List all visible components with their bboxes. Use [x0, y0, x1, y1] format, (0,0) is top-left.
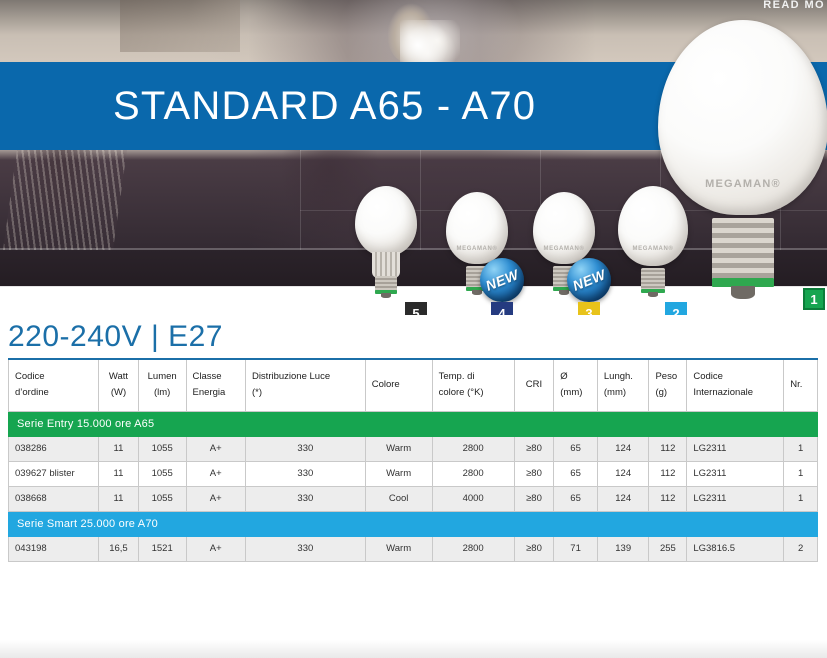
cell-classe: A+: [186, 536, 245, 561]
hero-banner: READ MO STANDARD A65 - A70 MEGAMAN® MEGA…: [0, 0, 827, 315]
cell-lumen: 1055: [138, 486, 186, 511]
cell-peso: 112: [649, 436, 687, 461]
feature-icons-row: Temperatura di esercizio + 40° - 30°: [0, 572, 827, 650]
bulb-brand-label-1: MEGAMAN®: [658, 178, 827, 190]
new-badge-label: NEW: [570, 266, 608, 294]
cell-temp: 2800: [432, 436, 514, 461]
col-header-line1: Classe: [193, 369, 239, 385]
cell-cri: ≥80: [514, 536, 554, 561]
col-header-nr: Nr.: [784, 359, 818, 411]
cell-watt: 11: [99, 436, 139, 461]
col-header-line1: Ø: [560, 369, 591, 385]
col-header-line2: Energia: [193, 385, 239, 401]
table-row[interactable]: 038286 11 1055 A+ 330 Warm 2800 ≥80 65 1…: [9, 436, 818, 461]
cell-internazionale: LG2311: [687, 486, 784, 511]
cell-internazionale: LG3816.5: [687, 536, 784, 561]
cell-distribuzione: 330: [245, 536, 365, 561]
specifications-table: Codice d’ordine Watt (W) Lumen (lm) Clas…: [8, 358, 818, 562]
new-badge-label: NEW: [483, 266, 521, 294]
product-number-badge-3: 3: [578, 302, 600, 315]
product-datasheet-page: READ MO STANDARD A65 - A70 MEGAMAN® MEGA…: [0, 0, 827, 658]
col-header-line1: Distribuzione Luce: [252, 369, 359, 385]
cell-lunghezza: 124: [597, 461, 649, 486]
cell-watt: 16,5: [99, 536, 139, 561]
cell-temp: 2800: [432, 461, 514, 486]
cell-classe: A+: [186, 486, 245, 511]
col-header-line1: Temp. di: [439, 369, 508, 385]
col-header-codice: Codice d’ordine: [9, 359, 99, 411]
new-badge-right: NEW: [567, 258, 611, 302]
col-header-line2: Internazionale: [693, 385, 777, 401]
product-number-badge-4: 4: [491, 302, 513, 315]
cell-codice: 043198: [9, 536, 99, 561]
table-body: Serie Entry 15.000 ore A65 038286 11 105…: [9, 411, 818, 561]
table-row[interactable]: 039627 blister 11 1055 A+ 330 Warm 2800 …: [9, 461, 818, 486]
cell-codice: 038286: [9, 436, 99, 461]
cell-colore: Warm: [365, 461, 432, 486]
chair: [3, 150, 127, 250]
cell-peso: 255: [649, 536, 687, 561]
col-header-temp-colore: Temp. di colore (°K): [432, 359, 514, 411]
cell-lumen: 1521: [138, 536, 186, 561]
cell-colore: Cool: [365, 486, 432, 511]
cell-distribuzione: 330: [245, 436, 365, 461]
cell-lunghezza: 139: [597, 536, 649, 561]
col-header-classe-energia: Classe Energia: [186, 359, 245, 411]
col-header-line1: Lungh.: [604, 369, 643, 385]
cell-nr: 1: [784, 486, 818, 511]
col-header-colore: Colore: [365, 359, 432, 411]
col-header-watt: Watt (W): [99, 359, 139, 411]
cell-nr: 2: [784, 536, 818, 561]
col-header-line2: (mm): [560, 385, 591, 401]
cell-distribuzione: 330: [245, 486, 365, 511]
col-header-line2: (g): [655, 385, 680, 401]
bulb-brand-label-4: MEGAMAN®: [446, 246, 508, 252]
col-header-line2: (mm): [604, 385, 643, 401]
table-head: Codice d’ordine Watt (W) Lumen (lm) Clas…: [9, 359, 818, 411]
bottom-fade: [0, 640, 827, 658]
col-header-line1: Colore: [372, 377, 426, 393]
table-group-header-smart: Serie Smart 25.000 ore A70: [9, 511, 818, 536]
product-number-badge-5: 5: [405, 302, 427, 315]
col-header-codice-internazionale: Codice Internazionale: [687, 359, 784, 411]
product-number-badge-1: 1: [803, 288, 825, 310]
cell-codice: 038668: [9, 486, 99, 511]
col-header-lunghezza: Lungh. (mm): [597, 359, 649, 411]
col-header-diametro: Ø (mm): [554, 359, 598, 411]
col-header-line1: Watt: [105, 369, 132, 385]
cell-internazionale: LG2311: [687, 436, 784, 461]
cell-cri: ≥80: [514, 486, 554, 511]
cell-classe: A+: [186, 436, 245, 461]
flowers: [400, 20, 460, 66]
cell-temp: 2800: [432, 536, 514, 561]
cell-cri: ≥80: [514, 436, 554, 461]
col-header-line2: (W): [105, 385, 132, 401]
cell-peso: 112: [649, 461, 687, 486]
cell-lunghezza: 124: [597, 486, 649, 511]
cell-lumen: 1055: [138, 436, 186, 461]
col-header-distribuzione-luce: Distribuzione Luce (*): [245, 359, 365, 411]
col-header-line1: Codice: [693, 369, 777, 385]
cell-classe: A+: [186, 461, 245, 486]
cell-lunghezza: 124: [597, 436, 649, 461]
table-row[interactable]: 043198 16,5 1521 A+ 330 Warm 2800 ≥80 71…: [9, 536, 818, 561]
col-header-peso: Peso (g): [649, 359, 687, 411]
read-more-link[interactable]: READ MO: [763, 0, 825, 11]
col-header-line1: Lumen: [145, 369, 180, 385]
cell-colore: Warm: [365, 436, 432, 461]
cell-codice: 039627 blister: [9, 461, 99, 486]
page-title: STANDARD A65 - A70: [113, 84, 536, 129]
cell-diametro: 71: [554, 536, 598, 561]
col-header-line1: CRI: [521, 377, 548, 393]
cell-watt: 11: [99, 461, 139, 486]
table-group-header-entry: Serie Entry 15.000 ore A65: [9, 411, 818, 436]
cell-nr: 1: [784, 436, 818, 461]
cell-distribuzione: 330: [245, 461, 365, 486]
product-bulb-1: MEGAMAN®: [658, 20, 827, 310]
cell-cri: ≥80: [514, 461, 554, 486]
cell-peso: 112: [649, 486, 687, 511]
voltage-base-heading: 220-240V | E27: [8, 320, 223, 354]
col-header-lumen: Lumen (lm): [138, 359, 186, 411]
wall-picture: [120, 0, 240, 52]
cell-internazionale: LG2311: [687, 461, 784, 486]
cell-colore: Warm: [365, 536, 432, 561]
col-header-line2: (*): [252, 385, 359, 401]
col-header-line2: d’ordine: [15, 385, 92, 401]
table-header-row: Codice d’ordine Watt (W) Lumen (lm) Clas…: [9, 359, 818, 411]
col-header-cri: CRI: [514, 359, 554, 411]
col-header-line2: colore (°K): [439, 385, 508, 401]
col-header-line2: (lm): [145, 385, 180, 401]
col-header-line1: Nr.: [790, 377, 811, 393]
cell-diametro: 65: [554, 461, 598, 486]
product-bulb-5: [355, 186, 417, 298]
bulb-brand-label-3: MEGAMAN®: [533, 246, 595, 252]
col-header-line1: Peso: [655, 369, 680, 385]
cell-nr: 1: [784, 461, 818, 486]
product-number-badge-2: 2: [665, 302, 687, 315]
col-header-line1: Codice: [15, 369, 92, 385]
cell-lumen: 1055: [138, 461, 186, 486]
cell-diametro: 65: [554, 486, 598, 511]
cell-diametro: 65: [554, 436, 598, 461]
new-badge-left: NEW: [480, 258, 524, 302]
group-label: Serie Smart 25.000 ore A70: [9, 511, 818, 536]
cell-watt: 11: [99, 486, 139, 511]
cell-temp: 4000: [432, 486, 514, 511]
group-label: Serie Entry 15.000 ore A65: [9, 411, 818, 436]
table-row[interactable]: 038668 11 1055 A+ 330 Cool 4000 ≥80 65 1…: [9, 486, 818, 511]
